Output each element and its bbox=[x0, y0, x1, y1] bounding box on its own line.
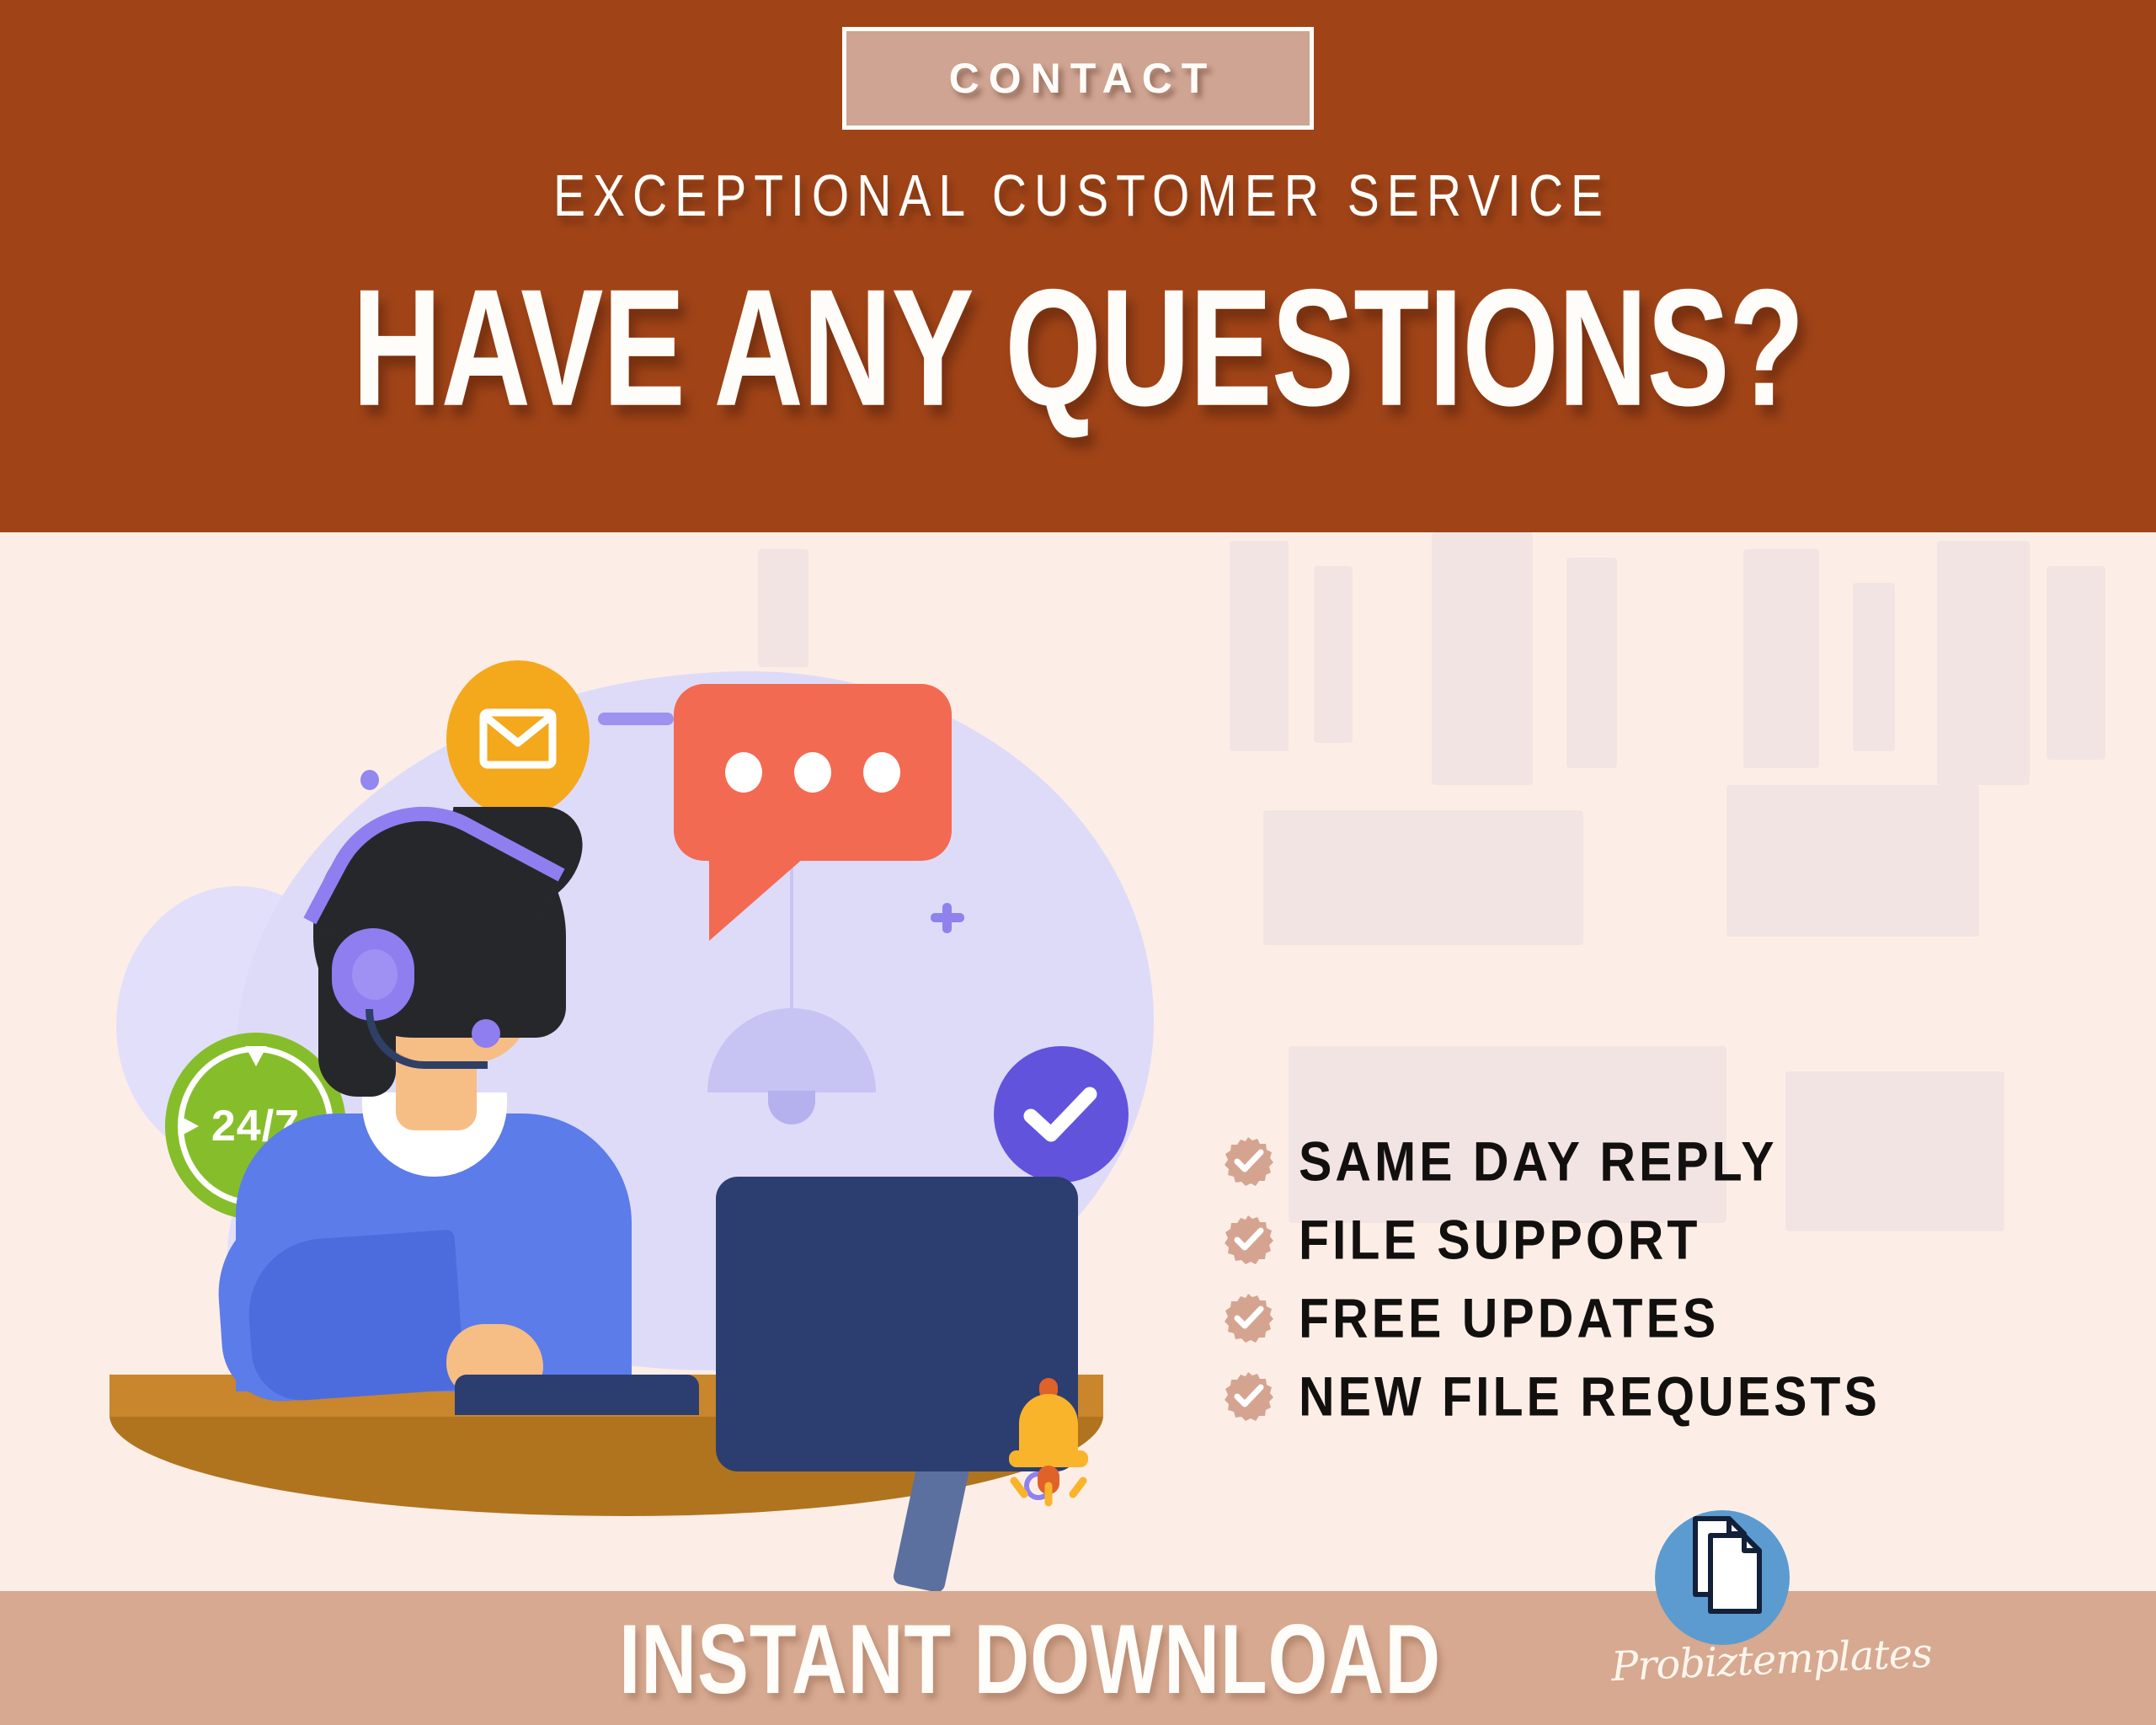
eyebrow-text: EXCEPTIONAL CUSTOMER SERVICE bbox=[0, 163, 2156, 231]
brand-name: Probiztemplates bbox=[1610, 1633, 1856, 1691]
agent-arm-shadow bbox=[244, 1230, 466, 1404]
list-item: NEW FILE REQUESTS bbox=[1223, 1357, 2099, 1435]
list-item: SAME DAY REPLY bbox=[1223, 1122, 2099, 1200]
background-watermark bbox=[1853, 583, 1895, 751]
instant-download-label: INSTANT DOWNLOAD bbox=[619, 1604, 1441, 1717]
feature-label: NEW FILE REQUESTS bbox=[1299, 1364, 1881, 1428]
bell-glyph bbox=[1002, 1375, 1095, 1509]
background-watermark bbox=[1726, 785, 1979, 937]
body-area: 24/7 bbox=[0, 532, 2156, 1591]
feature-label: FREE UPDATES bbox=[1299, 1285, 1719, 1349]
bell-icon bbox=[1002, 1375, 1095, 1509]
documents-icon bbox=[1630, 1507, 1857, 1650]
header-band: CONTACT EXCEPTIONAL CUSTOMER SERVICE HAV… bbox=[0, 0, 2156, 532]
check-badge-icon bbox=[1223, 1293, 1273, 1343]
background-watermark bbox=[1263, 810, 1583, 945]
contact-badge-label: CONTACT bbox=[940, 54, 1217, 103]
feature-list: SAME DAY REPLY FILE SUPPORT bbox=[1223, 1122, 2099, 1435]
keyboard-left bbox=[455, 1375, 699, 1415]
check-badge-icon bbox=[1223, 1136, 1273, 1187]
feature-label: SAME DAY REPLY bbox=[1299, 1129, 1778, 1193]
background-watermark bbox=[1566, 558, 1617, 768]
background-watermark bbox=[1743, 549, 1819, 768]
check-badge-icon bbox=[1223, 1371, 1273, 1422]
poster-canvas: CONTACT EXCEPTIONAL CUSTOMER SERVICE HAV… bbox=[0, 0, 2156, 1725]
brand-logo: Probiztemplates bbox=[1630, 1510, 1857, 1721]
check-badge-icon bbox=[1223, 1215, 1273, 1265]
customer-support-illustration: 24/7 bbox=[84, 532, 1179, 1591]
list-item: FREE UPDATES bbox=[1223, 1279, 2099, 1357]
background-watermark bbox=[2047, 566, 2105, 760]
background-watermark bbox=[1314, 566, 1353, 743]
background-watermark bbox=[1230, 541, 1289, 751]
contact-badge[interactable]: CONTACT bbox=[842, 27, 1314, 130]
feature-label: FILE SUPPORT bbox=[1299, 1207, 1700, 1271]
keyboard-right bbox=[720, 1375, 935, 1415]
background-watermark bbox=[1937, 541, 2030, 785]
page-title: HAVE ANY QUESTIONS? bbox=[32, 253, 2123, 445]
headset-earcup-inner bbox=[352, 949, 398, 1000]
background-watermark bbox=[1432, 532, 1533, 785]
list-item: FILE SUPPORT bbox=[1223, 1200, 2099, 1279]
headset-mic-tip bbox=[472, 1019, 500, 1048]
